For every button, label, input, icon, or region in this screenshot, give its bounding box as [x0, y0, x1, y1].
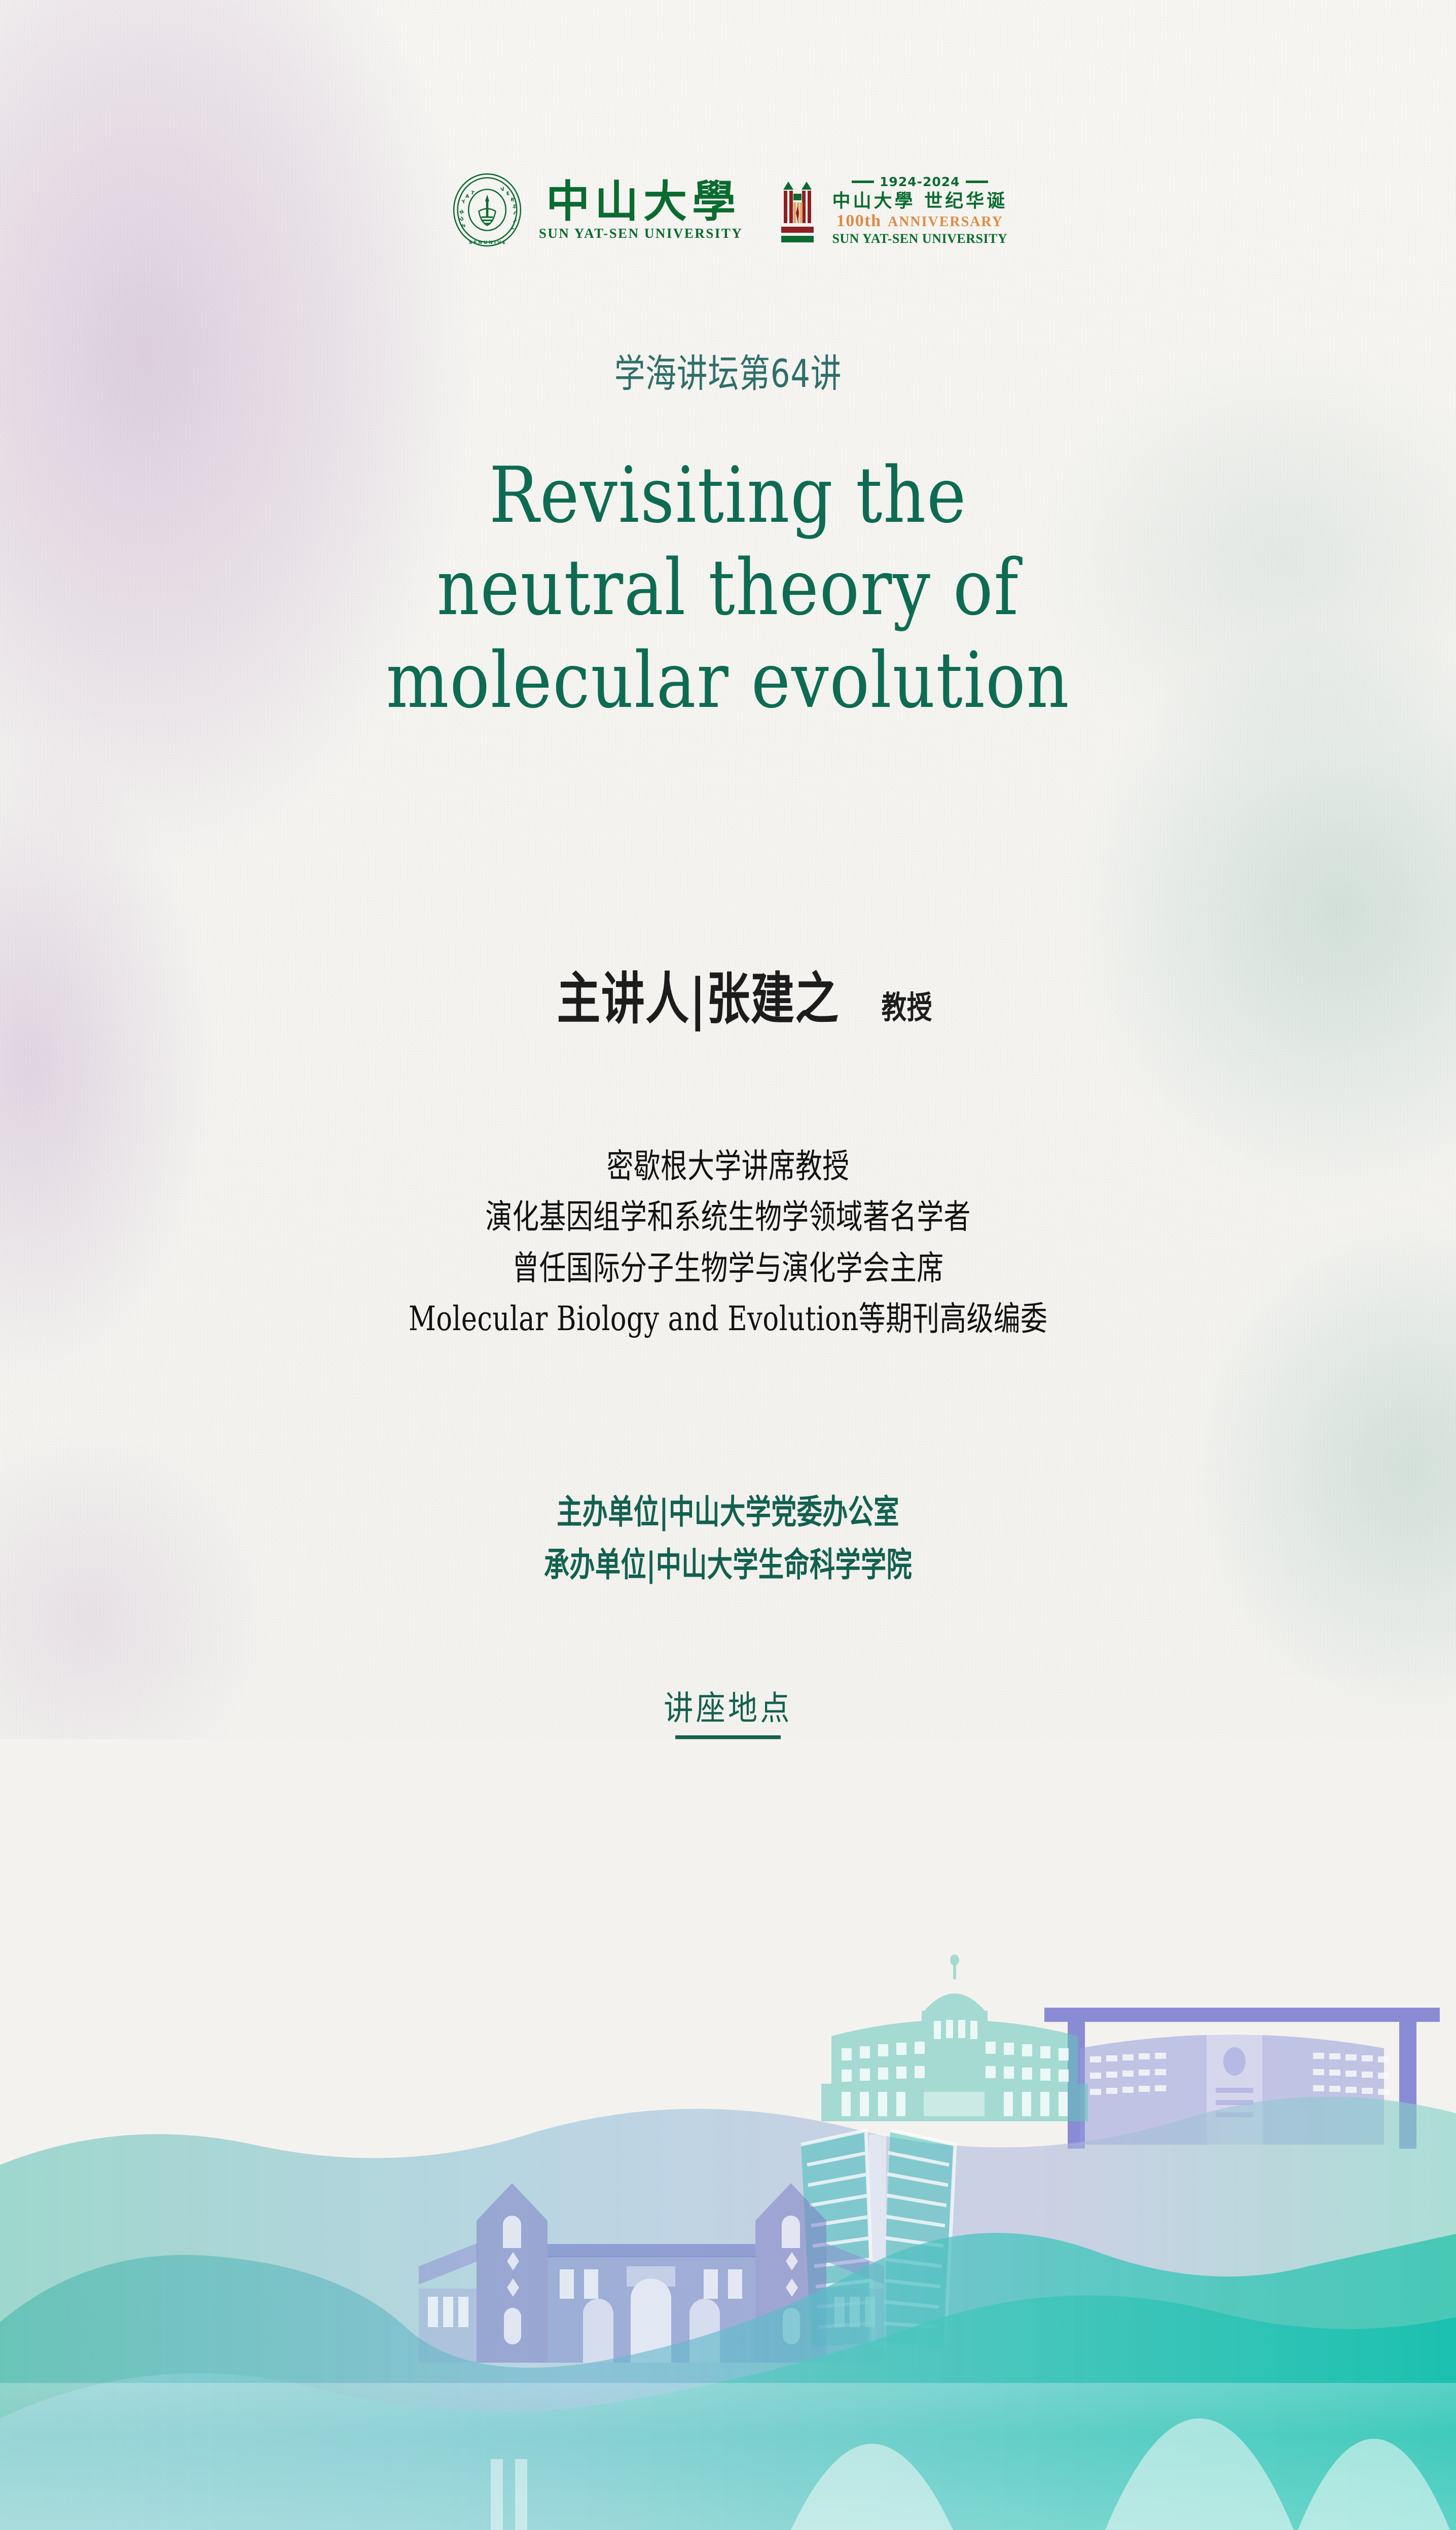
- backdrop-wash: [598, 1913, 1456, 2195]
- lecture-series-label: 学海讲坛第64讲: [145, 342, 1311, 398]
- speaker-line: 主讲人|张建之教授: [0, 953, 1456, 1035]
- svg-text:V: V: [500, 186, 505, 193]
- svg-text:S E N U N I V E: S E N U N I V E: [469, 240, 505, 245]
- bio-line-3: 曾任国际分子生物学与演化学会主席: [145, 1243, 1311, 1294]
- foreground-peaks: [791, 2418, 1450, 2530]
- organizer-block: 主办单位|中山大学党委办公室 承办单位|中山大学生命科学学院: [0, 1486, 1456, 1592]
- organizer-host: 主办单位|中山大学党委办公室: [175, 1486, 1282, 1539]
- venue-label: 讲座地点: [87, 1689, 1368, 1728]
- water-reflection-band: [0, 2383, 1456, 2530]
- domed-administration-building-icon: [821, 1954, 1088, 2121]
- hill-layer-1: [0, 1939, 913, 2165]
- bio-line-1: 密歇根大学讲席教授: [145, 1141, 1311, 1192]
- hill-layer-2: [0, 2004, 1456, 2530]
- title-line-2: neutral theory of: [102, 542, 1354, 634]
- hill-layer-3: [0, 2096, 1456, 2530]
- rule-right: [966, 181, 988, 183]
- time-value: 2025年12月5日10:30: [87, 1899, 1368, 1945]
- university-name-cn: 中山大學: [541, 180, 741, 224]
- university-gate-icon: [419, 2183, 884, 2363]
- venue-underline: [675, 1735, 781, 1741]
- svg-text:N: N: [459, 209, 465, 216]
- svg-text:A: A: [465, 194, 469, 199]
- time-underline: [675, 1880, 781, 1886]
- title-line-1: Revisiting the: [102, 449, 1354, 542]
- anniversary-gate-icon: [774, 174, 821, 245]
- svg-text:Y: Y: [461, 199, 466, 205]
- university-name-en: SUN YAT-SEN UNIVERSITY: [539, 227, 743, 240]
- twin-tower-library-icon: [801, 2130, 955, 2347]
- speaker-name: 主讲人|张建之: [557, 953, 839, 1035]
- sun-yat-sen-university-seal-icon: S U N Y A T Y T I S R E V S E N U N I: [449, 171, 526, 248]
- bio-line-4: Molecular Biology and Evolution等期刊高级编委: [145, 1294, 1311, 1344]
- anniversary-subtitle-en: SUN YAT-SEN UNIVERSITY: [832, 232, 1007, 245]
- reflected-gate-ghost: [491, 2459, 527, 2530]
- header-logo-row: S U N Y A T Y T I S R E V S E N U N I: [0, 171, 1456, 248]
- hill-layer-4: [0, 2233, 1456, 2530]
- curved-office-block-icon: [1044, 2008, 1440, 2149]
- domed-administration-windows: [842, 2020, 1069, 2116]
- twin-spire-hall-windows: [101, 1929, 271, 2070]
- bio-line-2: 演化基因组学和系统生物学领域著名学者: [145, 1192, 1311, 1242]
- lecture-poster: S U N Y A T Y T I S R E V S E N U N I: [0, 0, 1456, 2530]
- anniversary-100th-line: 100th ANNIVERSARY: [836, 212, 1003, 230]
- speaker-rank: 教授: [882, 982, 933, 1027]
- title-line-3: molecular evolution: [102, 634, 1354, 727]
- venue-value: 中山大学南校园生命科学楼2号楼102讲学厅: [87, 1754, 1368, 1800]
- university-logo: S U N Y A T Y T I S R E V S E N U N I: [449, 171, 743, 248]
- svg-text:S: S: [460, 223, 467, 229]
- anniversary-word: ANNIVERSARY: [888, 214, 1003, 230]
- anniversary-100th: 100th: [836, 211, 882, 230]
- page-title: Revisiting the neutral theory of molecul…: [0, 449, 1456, 727]
- rule-left: [852, 181, 874, 183]
- anniversary-years-text: 1924-2024: [880, 174, 960, 189]
- anniversary-logo: 1924-2024 中山大學 世纪华诞 100th ANNIVERSARY SU…: [774, 174, 1007, 245]
- svg-text:E: E: [506, 191, 509, 196]
- anniversary-title-cn: 中山大學 世纪华诞: [832, 192, 1008, 210]
- university-wordmark: 中山大學 SUN YAT-SEN UNIVERSITY: [539, 180, 743, 240]
- speaker-bio: 密歇根大学讲席教授 演化基因组学和系统生物学领域著名学者 曾任国际分子生物学与演…: [0, 1141, 1456, 1344]
- event-details: 讲座地点 中山大学南校园生命科学楼2号楼102讲学厅 讲座时间 2025年12月…: [0, 1689, 1456, 1945]
- svg-text:R: R: [510, 197, 515, 203]
- detail-spacer: [0, 1800, 1456, 1834]
- anniversary-years: 1924-2024: [852, 174, 988, 189]
- organizer-coorganizer: 承办单位|中山大学生命科学学院: [175, 1539, 1282, 1591]
- time-label: 讲座时间: [87, 1834, 1368, 1873]
- hill-layer-5: [0, 2295, 1456, 2530]
- anniversary-wordmark: 1924-2024 中山大學 世纪华诞 100th ANNIVERSARY SU…: [832, 174, 1007, 245]
